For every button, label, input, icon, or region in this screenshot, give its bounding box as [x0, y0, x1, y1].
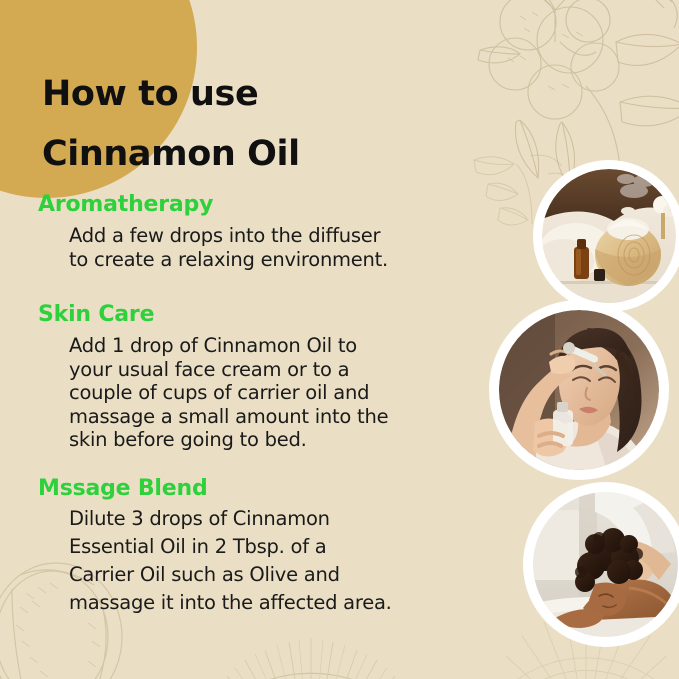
poster-canvas: How to use Cinnamon Oil Aromatherapy Add…	[0, 0, 679, 679]
photo-diffuser-image	[542, 169, 676, 303]
body-line: Carrier Oil such as Olive and	[69, 561, 392, 589]
body-line: Add 1 drop of Cinnamon Oil to	[69, 334, 388, 358]
body-line: massage it into the affected area.	[69, 589, 392, 617]
photo-massage-image	[533, 492, 678, 637]
photo-skincare	[489, 300, 669, 480]
body-line: your usual face cream or to a	[69, 358, 388, 382]
photo-skincare-image	[499, 310, 659, 470]
section-body-skin-care: Add 1 drop of Cinnamon Oil to your usual…	[38, 334, 388, 452]
section-heading-skin-care: Skin Care	[38, 302, 388, 328]
photo-massage	[523, 482, 679, 647]
page-title-line-1: How to use	[42, 74, 258, 114]
page-title-line-2: Cinnamon Oil	[42, 134, 300, 174]
section-body-aromatherapy: Add a few drops into the diffuser to cre…	[38, 224, 388, 271]
body-line: skin before going to bed.	[69, 428, 388, 452]
section-body-massage-blend: Dilute 3 drops of Cinnamon Essential Oil…	[38, 505, 392, 617]
body-line: Dilute 3 drops of Cinnamon	[69, 505, 392, 533]
section-massage-blend: Mssage Blend Dilute 3 drops of Cinnamon …	[38, 476, 392, 617]
photo-diffuser	[533, 160, 679, 312]
section-aromatherapy: Aromatherapy Add a few drops into the di…	[38, 192, 388, 271]
body-line: Add a few drops into the diffuser	[69, 224, 388, 248]
body-line: Essential Oil in 2 Tbsp. of a	[69, 533, 392, 561]
body-line: to create a relaxing environment.	[69, 248, 388, 272]
body-line: couple of cups of carrier oil and	[69, 381, 388, 405]
text-column: How to use Cinnamon Oil Aromatherapy Add…	[0, 0, 470, 679]
section-heading-aromatherapy: Aromatherapy	[38, 192, 388, 218]
section-skin-care: Skin Care Add 1 drop of Cinnamon Oil to …	[38, 302, 388, 452]
body-line: massage a small amount into the	[69, 405, 388, 429]
section-heading-massage-blend: Mssage Blend	[38, 476, 392, 502]
